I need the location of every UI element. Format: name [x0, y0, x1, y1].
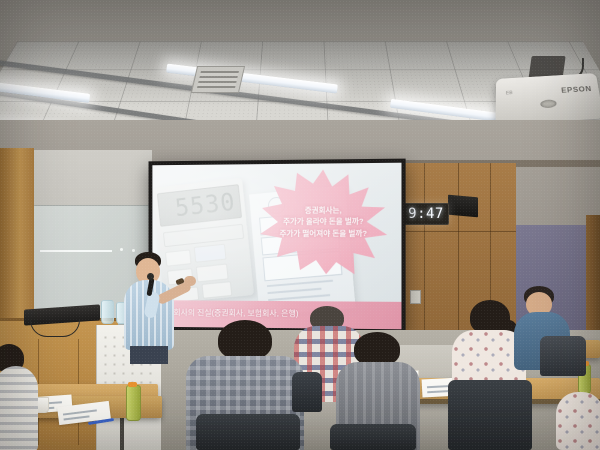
- chair-back-right[interactable]: [540, 336, 586, 376]
- attendee-front-left-torso: [0, 366, 38, 450]
- attendee-right-edge-torso: [556, 392, 600, 450]
- chair-center[interactable]: [196, 414, 300, 450]
- attendee-gray-hair: [354, 332, 400, 366]
- projector: EB EPSON: [496, 73, 600, 125]
- clock-time-display: 9:47: [408, 206, 444, 222]
- paper-line: [64, 415, 90, 420]
- form-line-2: [267, 288, 321, 294]
- starburst-line-1: 증권회사는,: [305, 206, 342, 216]
- digital-wall-clock: 9:47: [403, 203, 449, 225]
- calculator-key-6: [201, 281, 232, 299]
- starburst-text-block: 증권회사는, 주가가 올라야 돈을 벌까? 주가가 떨어져야 돈을 벌까?: [260, 169, 387, 274]
- projector-brand-label: EPSON: [561, 85, 592, 95]
- paper-line: [63, 409, 97, 415]
- starburst-line-2: 주가가 올라야 돈을 벌까?: [283, 217, 364, 227]
- microphone-head: [147, 273, 154, 280]
- chair-plaid[interactable]: [292, 372, 322, 412]
- panel-seam-h: [398, 231, 516, 232]
- attendee-right-edge: [556, 392, 600, 450]
- wall-sign-plate: [410, 290, 421, 304]
- attendee-front-left: [0, 344, 42, 450]
- chair-floral[interactable]: [448, 380, 532, 450]
- calculator-lcd: 5530: [157, 184, 242, 227]
- presenter-hand: [184, 276, 196, 286]
- green-tea-bottle[interactable]: [126, 385, 141, 421]
- seminar-room-photo: EB EPSON 9:47 5530: [0, 0, 600, 450]
- projector-lens: [540, 99, 557, 108]
- bottle-cap: [128, 382, 137, 387]
- air-vent: [191, 66, 245, 93]
- calculator-solar-bar: [163, 224, 244, 247]
- wall-speaker: [448, 195, 478, 218]
- slide-starburst: 증권회사는, 주가가 올라야 돈을 벌까? 주가가 떨어져야 돈을 벌까?: [260, 169, 387, 274]
- whiteboard-highlight-1: [120, 248, 123, 251]
- whiteboard-glare: [40, 250, 112, 252]
- chair-right-of-center[interactable]: [330, 424, 416, 450]
- presenter-trousers: [130, 346, 168, 364]
- attendee-center-hair: [218, 320, 272, 360]
- podium-bottle-1[interactable]: [101, 300, 114, 324]
- starburst-line-3: 주가가 떨어져야 돈을 벌까?: [280, 228, 367, 238]
- projector-side-label: EB: [506, 91, 513, 97]
- form-line-1: [267, 280, 333, 287]
- calculator-display-value: 5530: [174, 188, 237, 222]
